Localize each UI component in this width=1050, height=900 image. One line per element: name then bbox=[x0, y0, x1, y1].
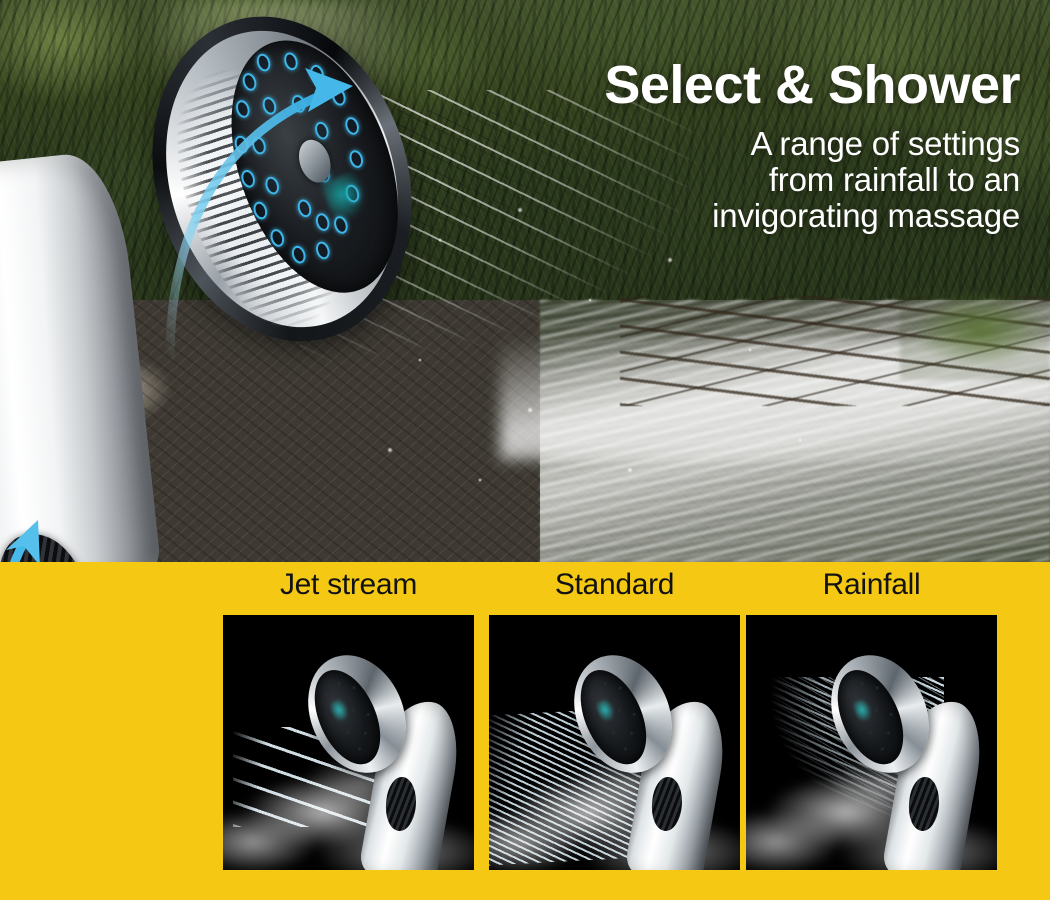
hero-shower-head-product bbox=[0, 8, 420, 562]
hero-copy-block: Select & Shower A range of settings from… bbox=[604, 58, 1020, 234]
hero-subtitle-line-3: invigorating massage bbox=[604, 198, 1020, 234]
shower-handle bbox=[0, 149, 162, 562]
spray-mode-thumbnail bbox=[746, 615, 997, 870]
page-title: Select & Shower bbox=[604, 58, 1020, 112]
product-marketing-banner: Select & Shower A range of settings from… bbox=[0, 0, 1050, 900]
spray-mode-rainfall[interactable]: Rainfall bbox=[746, 562, 997, 870]
spray-modes-band: Jet stream bbox=[0, 562, 1050, 900]
hero-subtitle: A range of settings from rainfall to an … bbox=[604, 126, 1020, 234]
spray-mode-label: Jet stream bbox=[223, 562, 474, 602]
shower-head-body bbox=[108, 0, 457, 384]
spray-mode-thumbnail bbox=[223, 615, 474, 870]
spray-modes-list: Jet stream bbox=[223, 562, 1003, 900]
hero-subtitle-line-1: A range of settings bbox=[604, 126, 1020, 162]
spray-mode-thumbnail bbox=[489, 615, 740, 870]
spray-mode-standard[interactable]: Standard bbox=[489, 562, 740, 870]
spray-mode-label: Rainfall bbox=[746, 562, 997, 602]
mini-shower-head-standard bbox=[489, 615, 740, 870]
mini-shower-head-rainfall bbox=[746, 615, 997, 870]
mini-shower-head-jet bbox=[223, 615, 474, 870]
hero-section: Select & Shower A range of settings from… bbox=[0, 0, 1050, 562]
hero-subtitle-line-2: from rainfall to an bbox=[604, 162, 1020, 198]
spray-mode-jet-stream[interactable]: Jet stream bbox=[223, 562, 474, 870]
spray-mode-label: Standard bbox=[489, 562, 740, 602]
